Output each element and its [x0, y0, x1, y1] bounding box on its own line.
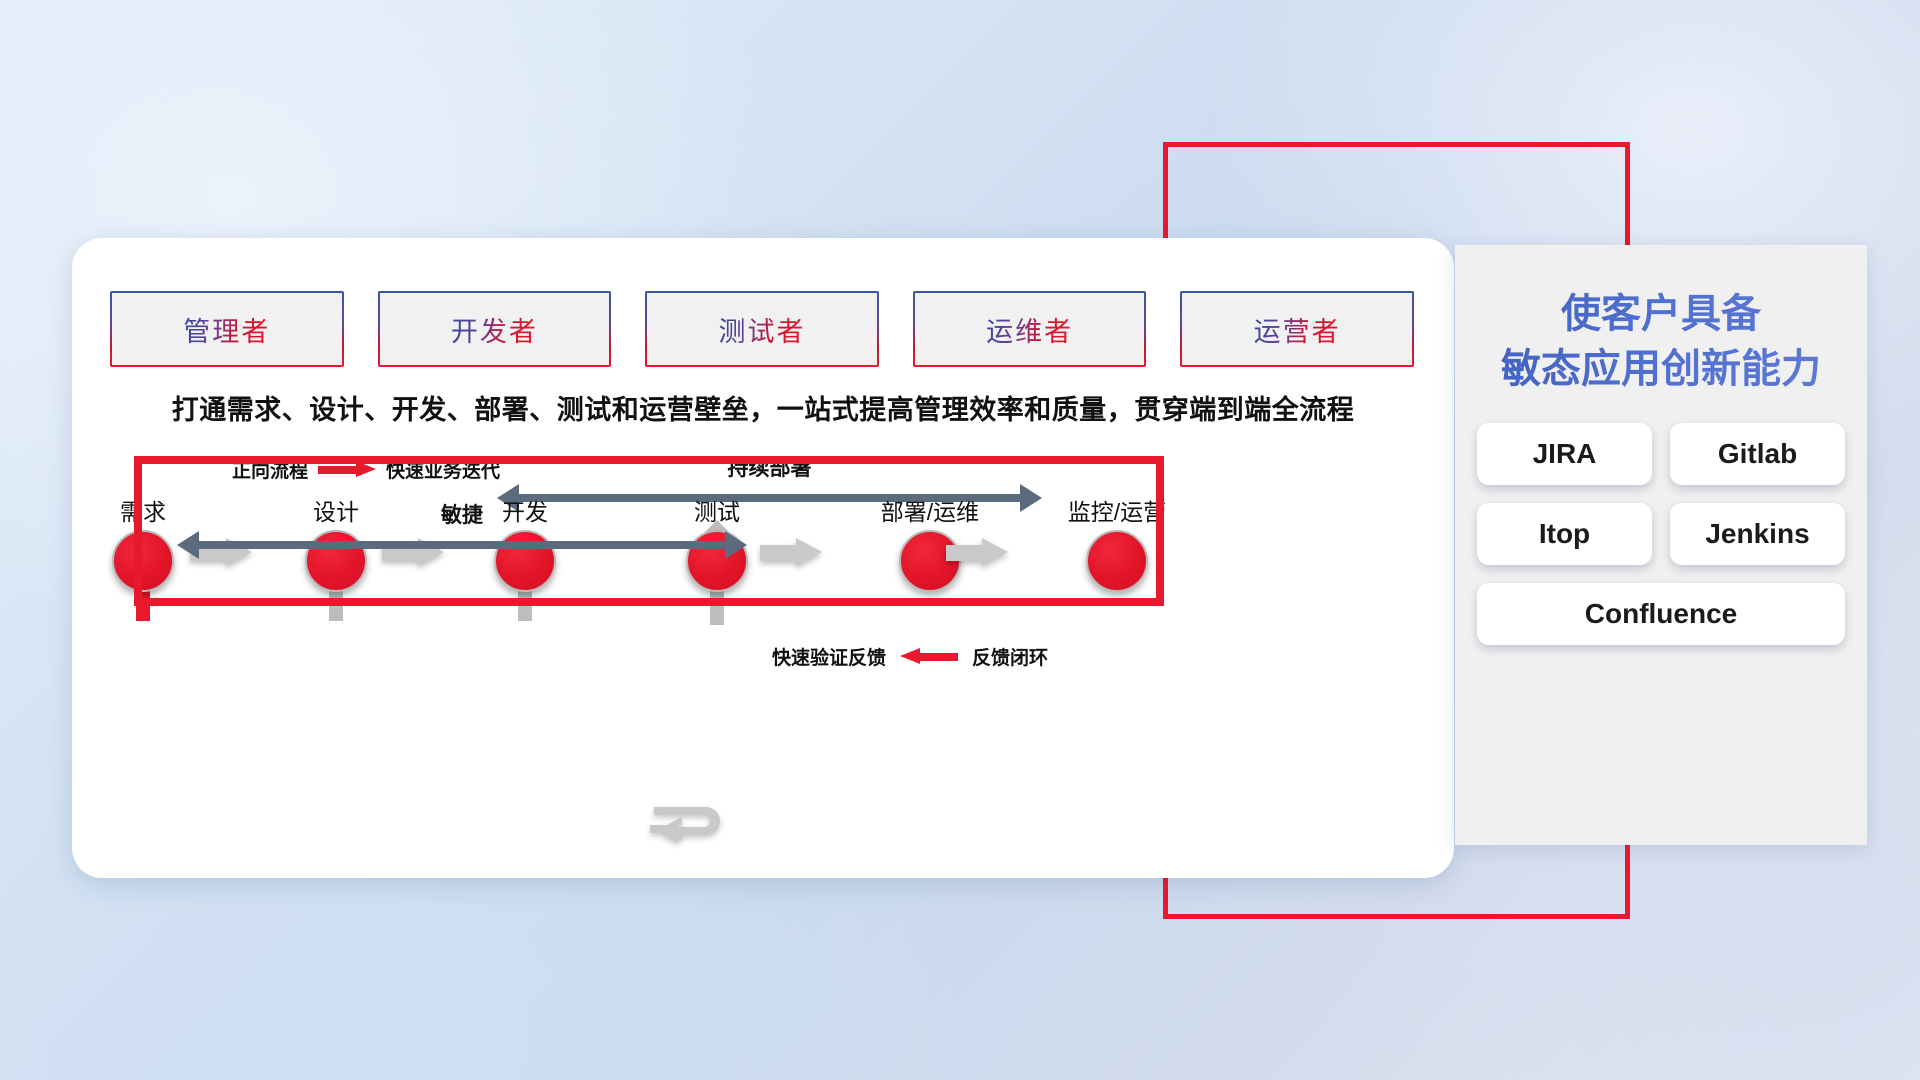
role-label: 运营者	[1254, 310, 1341, 349]
role-label: 开发者	[451, 310, 538, 349]
feedback-right-label: 反馈闭环	[972, 643, 1048, 670]
measure-bar	[193, 541, 731, 549]
role-boxes-row: 管理者 开发者 测试者 运维者 运营者	[112, 293, 1412, 365]
role-box-inner: 开发者	[380, 293, 610, 365]
feedback-left-label: 快速验证反馈	[772, 643, 886, 670]
role-label: 运维者	[986, 310, 1073, 349]
tool-chip-itop[interactable]: Itop	[1477, 503, 1652, 565]
role-box-inner: 管理者	[112, 293, 342, 365]
role-box-inner: 测试者	[647, 293, 877, 365]
role-box-operator[interactable]: 运营者	[1182, 293, 1412, 365]
tool-chip-jira[interactable]: JIRA	[1477, 423, 1652, 485]
measure-agile: 敏捷	[177, 525, 747, 565]
devops-overview-card: 管理者 开发者 测试者 运维者 运营者	[72, 238, 1454, 878]
measure-label: 敏捷	[177, 499, 747, 529]
arrow-head-right-icon	[725, 531, 747, 559]
tools-title-line1: 使客户具备	[1455, 287, 1867, 342]
tool-chip-jenkins[interactable]: Jenkins	[1670, 503, 1845, 565]
role-box-manager[interactable]: 管理者	[112, 293, 342, 365]
role-label: 管理者	[183, 310, 270, 349]
card-tagline: 打通需求、设计、开发、部署、测试和运营壁垒，一站式提高管理效率和质量，贯穿端到端…	[72, 388, 1454, 427]
tools-title-line2: 敏态应用创新能力	[1455, 342, 1867, 397]
role-box-ops[interactable]: 运维者	[915, 293, 1145, 365]
arrow-left-red-icon	[900, 649, 958, 665]
arrow-head-left-icon	[177, 531, 199, 559]
tool-chip-gitlab[interactable]: Gitlab	[1670, 423, 1845, 485]
role-box-inner: 运营者	[1182, 293, 1412, 365]
tools-grid: JIRA Gitlab Itop Jenkins Confluence	[1477, 423, 1845, 645]
role-box-tester[interactable]: 测试者	[647, 293, 877, 365]
tool-chip-confluence[interactable]: Confluence	[1477, 583, 1845, 645]
feedback-legend: 快速验证反馈 反馈闭环	[772, 643, 1048, 670]
slide-root: 管理者 开发者 测试者 运维者 运营者	[0, 0, 1920, 1080]
role-box-developer[interactable]: 开发者	[380, 293, 610, 365]
tools-panel-title: 使客户具备 敏态应用创新能力	[1455, 287, 1867, 397]
tools-panel: 使客户具备 敏态应用创新能力 JIRA Gitlab Itop Jenkins …	[1455, 245, 1867, 845]
role-label: 测试者	[718, 310, 805, 349]
role-box-inner: 运维者	[915, 293, 1145, 365]
loopback-arrow-icon	[644, 793, 734, 851]
